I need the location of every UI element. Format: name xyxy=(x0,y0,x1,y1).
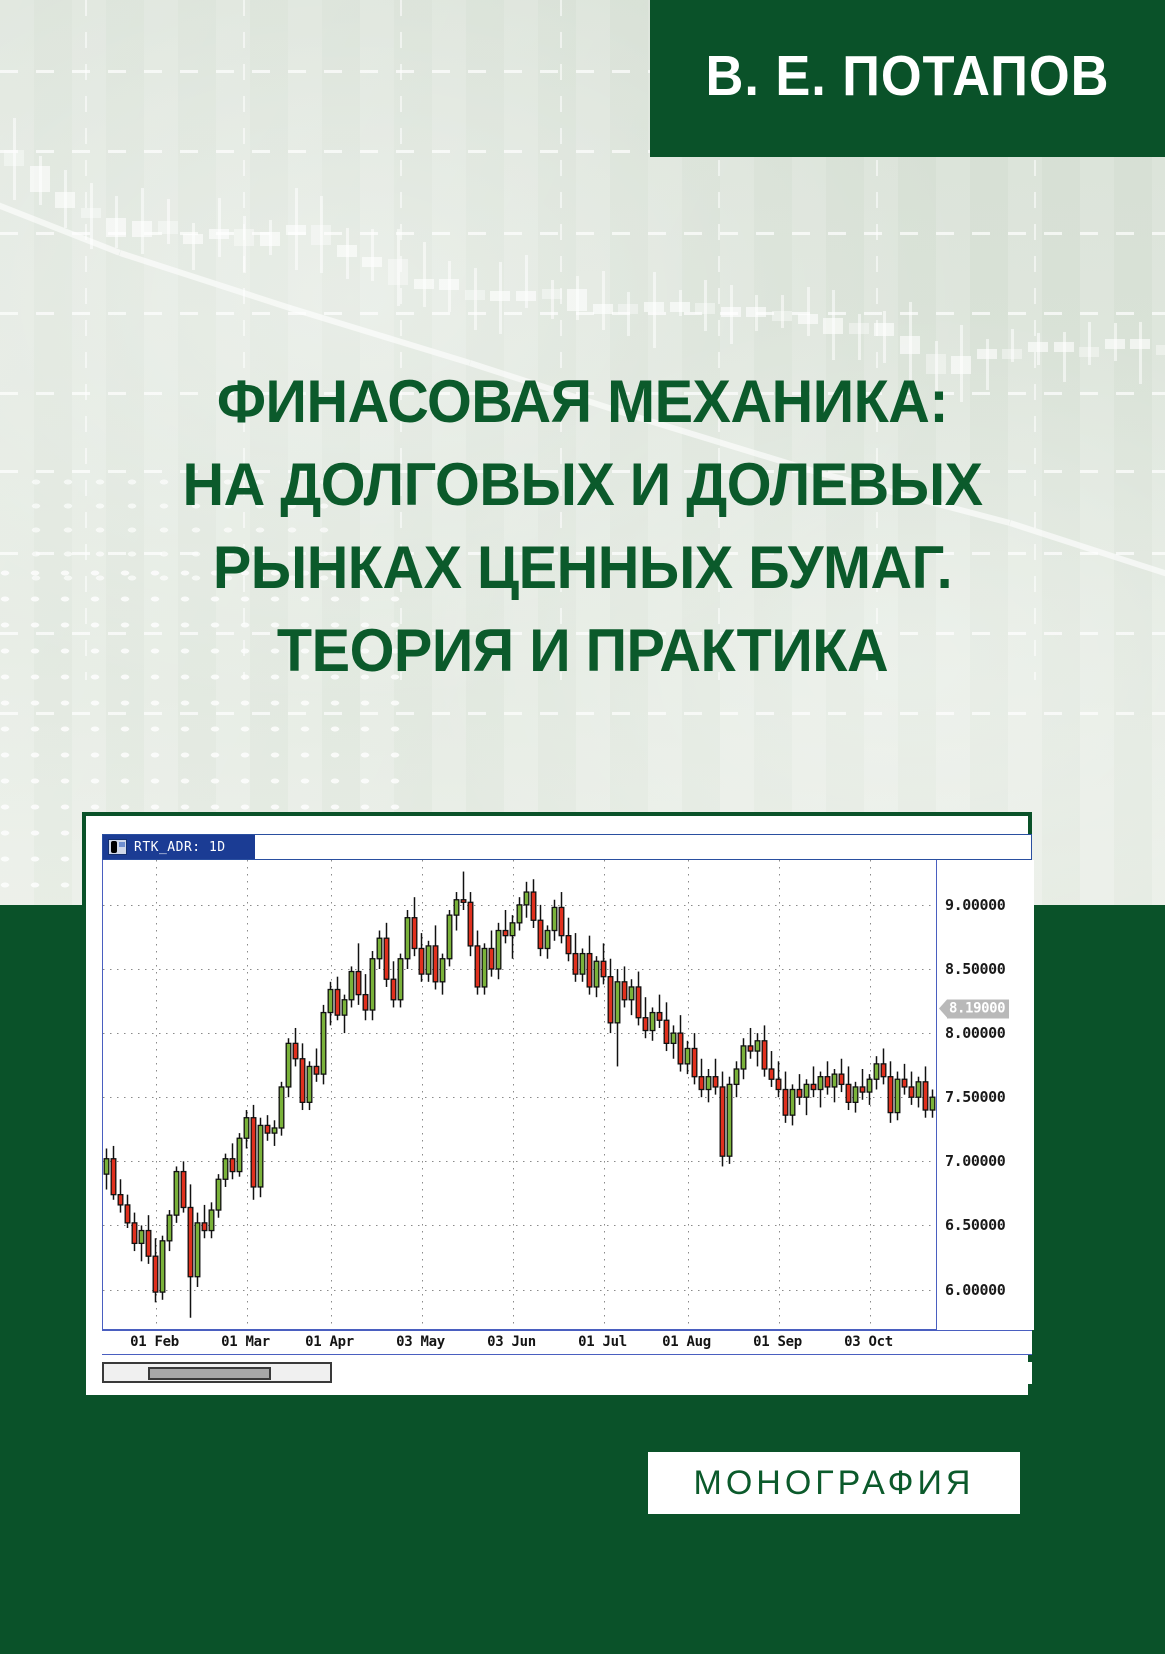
chart-scrollbar-area[interactable] xyxy=(102,1362,1032,1384)
chart-titlebar-tab[interactable]: RTK_ADR: 1D xyxy=(103,835,255,859)
chart-plot-area[interactable] xyxy=(102,860,937,1330)
date-axis-tick: 01 Feb xyxy=(130,1334,179,1350)
status-badge: МОНОГРАФИЯ xyxy=(648,1452,1020,1514)
page-title: ФИНАСОВАЯ МЕХАНИКА: НА ДОЛГОВЫХ И ДОЛЕВЫ… xyxy=(0,360,1165,692)
title-line-4: ТЕОРИЯ И ПРАКТИКА xyxy=(62,609,1104,692)
chart-titlebar-label: RTK_ADR: 1D xyxy=(134,840,226,855)
date-axis-tick: 01 Sep xyxy=(753,1334,802,1350)
price-axis-tick: 6.00000 xyxy=(945,1281,1005,1299)
date-axis-tick: 03 Oct xyxy=(844,1334,893,1350)
price-axis-tick: 6.50000 xyxy=(945,1216,1005,1234)
price-axis-tick: 9.00000 xyxy=(945,896,1005,914)
title-line-1: ФИНАСОВАЯ МЕХАНИКА: xyxy=(62,360,1104,443)
chart-document-icon xyxy=(108,839,127,855)
price-axis-tick: 7.50000 xyxy=(945,1088,1005,1106)
candlestick-series xyxy=(103,860,936,1328)
book-cover: В. Е. ПОТАПОВ ФИНАСОВАЯ МЕХАНИКА: НА ДОЛ… xyxy=(0,0,1165,1654)
date-axis-tick: 03 May xyxy=(396,1334,445,1350)
date-axis-tick: 01 Aug xyxy=(662,1334,711,1350)
horizontal-scrollbar-track[interactable] xyxy=(102,1362,332,1383)
price-axis-tick: 8.50000 xyxy=(945,960,1005,978)
monograph-label: МОНОГРАФИЯ xyxy=(694,1464,975,1503)
date-axis-tick: 01 Mar xyxy=(221,1334,270,1350)
title-line-3: РЫНКАХ ЦЕННЫХ БУМАГ. xyxy=(62,526,1104,609)
price-axis-tick: 8.00000 xyxy=(945,1024,1005,1042)
chart-window: RTK_ADR: 1D 6.000006.500007.000007.50000… xyxy=(82,812,1032,1399)
date-axis-tick: 01 Jul xyxy=(578,1334,627,1350)
chart-titlebar: RTK_ADR: 1D xyxy=(102,834,1032,860)
title-line-2: НА ДОЛГОВЫХ И ДОЛЕВЫХ xyxy=(62,443,1104,526)
price-marker-arrow-icon xyxy=(939,1000,947,1018)
chart-window-inner: RTK_ADR: 1D 6.000006.500007.000007.50000… xyxy=(94,824,1020,1387)
chart-date-axis: 01 Feb01 Mar01 Apr03 May03 Jun01 Jul01 A… xyxy=(102,1330,1032,1355)
author-name: В. Е. ПОТАПОВ xyxy=(706,43,1110,109)
author-banner: В. Е. ПОТАПОВ xyxy=(650,0,1165,157)
current-price-marker: 8.19000 xyxy=(939,999,1009,1018)
horizontal-scrollbar-thumb[interactable] xyxy=(148,1367,271,1380)
price-axis-tick: 7.00000 xyxy=(945,1152,1005,1170)
chart-price-axis: 6.000006.500007.000007.500008.000008.500… xyxy=(939,860,1034,1330)
date-axis-tick: 01 Apr xyxy=(305,1334,354,1350)
price-marker-label: 8.19000 xyxy=(947,999,1009,1018)
date-axis-tick: 03 Jun xyxy=(487,1334,536,1350)
